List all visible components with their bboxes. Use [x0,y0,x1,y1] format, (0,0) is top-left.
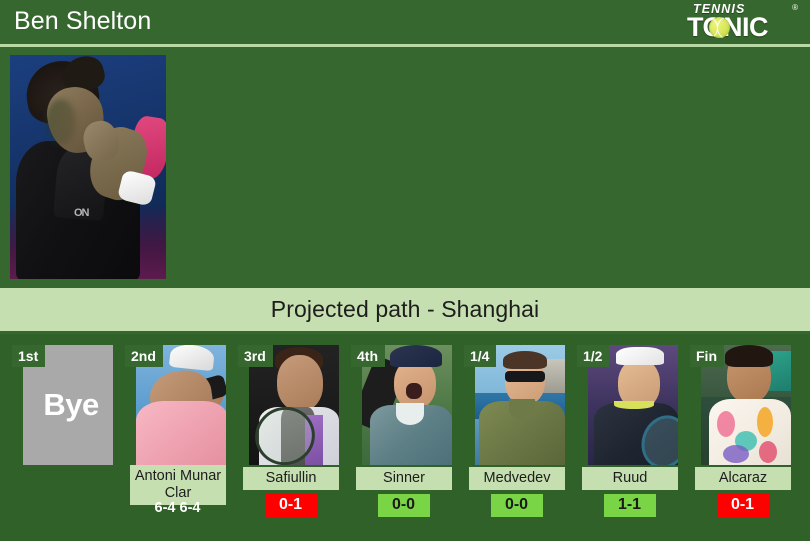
opponent-name[interactable]: Antoni Munar Clar [130,465,226,505]
round-label: 1/4 [464,345,496,367]
photo-mouth [406,383,422,399]
path-card-round-1[interactable]: 1st Bye [8,337,121,541]
bye-label: Bye [37,387,98,423]
opponent-name[interactable]: Medvedev [469,467,565,490]
hero-section: ON [0,47,810,286]
round-label: 3rd [238,345,273,367]
registered-trademark-icon: ® [792,3,798,12]
round-label: 4th [351,345,385,367]
photo-shirt-pattern [723,445,749,463]
path-card-round-2[interactable]: 2nd Antoni Munar Clar 6-4 6-4 [121,337,234,541]
h2h-badge: 1-1 [604,494,656,517]
header-bar: Ben Shelton TENNIS TONIC ® [0,0,810,47]
tennis-tonic-logo[interactable]: TENNIS TONIC ® [684,3,802,43]
opponent-name[interactable]: Safiullin [243,467,339,490]
photo-shirt [136,401,226,465]
round-label: 1st [12,345,45,367]
h2h-badge: 0-1 [265,494,317,517]
round-label: 2nd [125,345,163,367]
photo-cap [169,345,215,371]
match-score: 6-4 6-4 [121,500,234,516]
photo-collar [396,403,424,425]
player-photo: ON [10,55,166,279]
h2h-badge: 0-0 [378,494,430,517]
round-label: 1/2 [577,345,609,367]
photo-collar [509,399,535,419]
opponent-name[interactable]: Sinner [356,467,452,490]
opponent-name[interactable]: Ruud [582,467,678,490]
sunglasses-icon [505,371,545,382]
round-label: Fin [690,345,724,367]
photo-collar [614,401,654,409]
photo-cap [390,345,442,367]
projected-path-list: 1st Bye 2nd Antoni Munar Clar 6-4 6-4 3r… [0,337,810,541]
path-card-quarterfinal[interactable]: 1/4 Medvedev 0-0 [460,337,573,541]
path-card-round-4[interactable]: 4th Sinner 0-0 [347,337,460,541]
opponent-name[interactable]: Alcaraz [695,467,791,490]
path-card-semifinal[interactable]: 1/2 Ruud 1-1 [573,337,686,541]
tennis-ball-icon [709,17,730,38]
photo-shirt-pattern [757,407,773,437]
photo-headband [616,347,664,365]
photo-hair [725,345,773,367]
h2h-badge: 0-0 [491,494,543,517]
projected-path-page: Ben Shelton TENNIS TONIC ® ON Projected … [0,0,810,541]
photo-face-shadow [46,99,76,145]
photo-brand-mark: ON [74,207,89,219]
h2h-badge: 0-1 [717,494,769,517]
photo-face [277,355,323,411]
path-card-round-3[interactable]: 3rd Safiullin 0-1 [234,337,347,541]
banner-title: Projected path - Shanghai [271,296,539,323]
path-card-final[interactable]: Fin Alcaraz 0-1 [686,337,799,541]
page-title: Ben Shelton [14,7,151,36]
photo-shirt-pattern [759,441,777,463]
projected-path-banner: Projected path - Shanghai [0,286,810,334]
photo-shirt-pattern [717,411,735,437]
photo-hair [503,351,547,369]
